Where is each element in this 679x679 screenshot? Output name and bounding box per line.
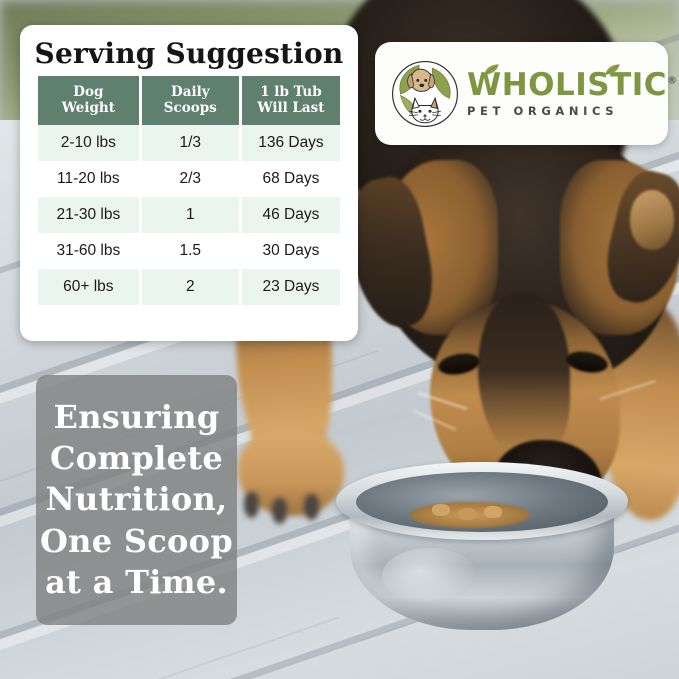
dog-toenail	[244, 492, 259, 518]
cell-daily-scoops: 1.5	[142, 233, 239, 269]
cell-daily-scoops: 2	[142, 269, 239, 305]
brand-logo: WHOLISTIC® PET ORGANICS	[375, 42, 668, 145]
cell-daily-scoops: 1/3	[142, 125, 239, 161]
table-row: 21-30 lbs 1 46 Days	[38, 197, 340, 233]
serving-suggestion-table: Dog Weight Daily Scoops 1 lb Tub Will La…	[35, 76, 343, 305]
brand-wordmark-group: WHOLISTIC® PET ORGANICS	[467, 70, 678, 118]
tagline-line: One Scoop	[40, 521, 233, 562]
column-header-line: Scoops	[164, 100, 217, 116]
dog-toenail	[272, 498, 287, 524]
cell-dog-weight: 31-60 lbs	[38, 233, 139, 269]
table-row: 31-60 lbs 1.5 30 Days	[38, 233, 340, 269]
cell-tub-duration: 46 Days	[242, 197, 340, 233]
cell-tub-duration: 23 Days	[242, 269, 340, 305]
dog-ear-fold	[630, 190, 674, 250]
column-header-line: Weight	[62, 100, 115, 116]
page-title: Serving Suggestion	[20, 37, 358, 70]
table-header-row: Dog Weight Daily Scoops 1 lb Tub Will La…	[38, 76, 340, 125]
cell-daily-scoops: 1	[142, 197, 239, 233]
column-header-line: Will Last	[257, 100, 324, 116]
cell-dog-weight: 11-20 lbs	[38, 161, 139, 197]
cell-daily-scoops: 2/3	[142, 161, 239, 197]
column-header-line: 1 lb Tub	[260, 84, 321, 100]
table-row: 60+ lbs 2 23 Days	[38, 269, 340, 305]
cell-dog-weight: 60+ lbs	[38, 269, 139, 305]
dog-and-cat-in-leaves-emblem	[389, 58, 461, 130]
table-row: 2-10 lbs 1/3 136 Days	[38, 125, 340, 161]
serving-suggestion-card: Serving Suggestion Dog Weight Daily Scoo…	[20, 25, 358, 341]
product-infographic: Serving Suggestion Dog Weight Daily Scoo…	[0, 0, 679, 679]
leaf-accent-icon	[484, 64, 499, 75]
brand-name: WHOLISTIC®	[467, 70, 678, 101]
brand-tagline-text: PET ORGANICS	[467, 106, 678, 118]
leaf-accent-icon	[605, 64, 620, 75]
cell-tub-duration: 68 Days	[242, 161, 340, 197]
tagline-line: Complete	[50, 438, 223, 479]
column-header-line: Daily	[171, 84, 210, 100]
cell-tub-duration: 136 Days	[242, 125, 340, 161]
cell-tub-duration: 30 Days	[242, 233, 340, 269]
column-header-daily-scoops: Daily Scoops	[142, 76, 239, 125]
tagline-line: Ensuring	[54, 397, 220, 438]
registered-trademark-symbol: ®	[667, 75, 678, 86]
column-header-tub-duration: 1 lb Tub Will Last	[242, 76, 340, 125]
column-header-line: Dog	[73, 84, 103, 100]
tagline-line: Nutrition,	[46, 479, 228, 520]
dog-food-bowl	[336, 462, 628, 630]
tagline-line: at a Time.	[45, 562, 228, 603]
table-row: 11-20 lbs 2/3 68 Days	[38, 161, 340, 197]
dog-toenail	[304, 494, 319, 520]
cell-dog-weight: 21-30 lbs	[38, 197, 139, 233]
cell-dog-weight: 2-10 lbs	[38, 125, 139, 161]
tagline-panel: Ensuring Complete Nutrition, One Scoop a…	[36, 375, 237, 625]
column-header-dog-weight: Dog Weight	[38, 76, 139, 125]
